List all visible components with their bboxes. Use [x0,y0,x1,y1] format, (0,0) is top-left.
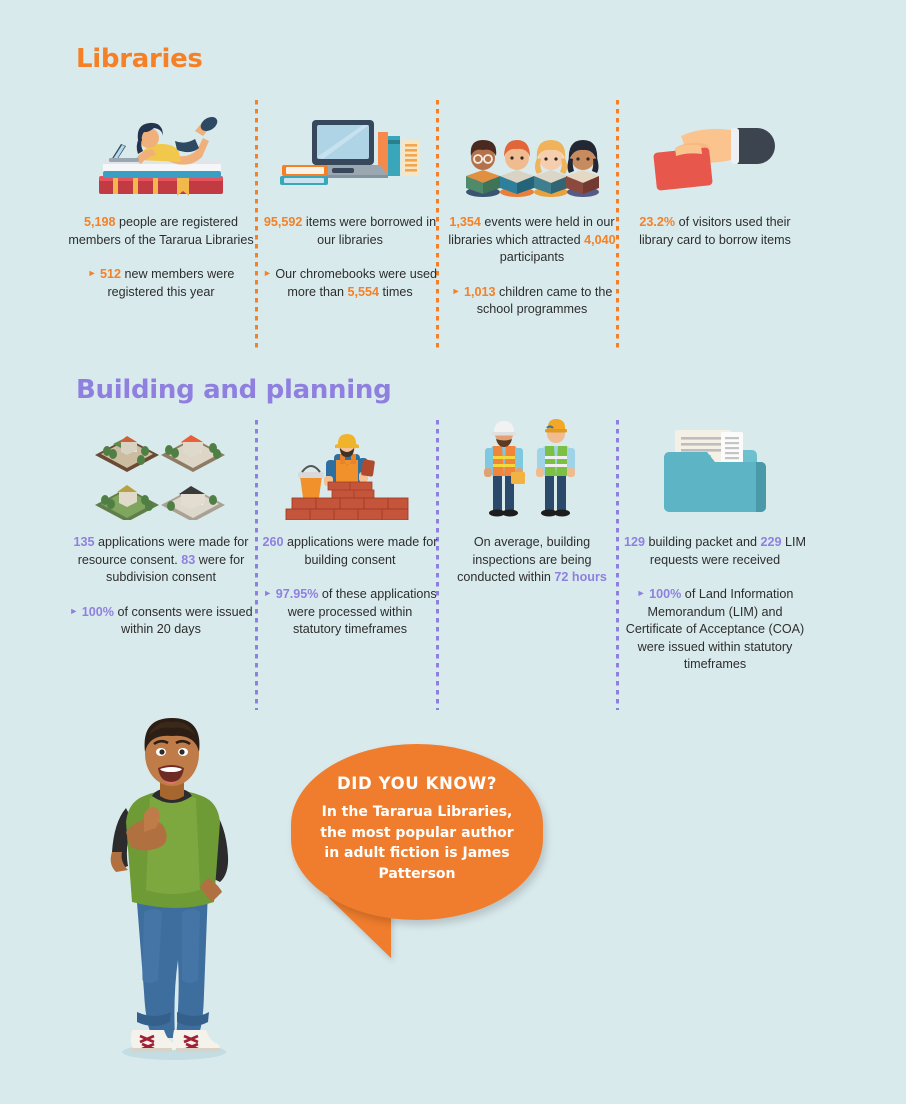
stat-column-resource-consent: 135 applications were made for resource … [66,420,256,639]
section-heading-building-and-planning: Building and planning [76,375,391,405]
stat-column-registered-members: 5,198 people are registered members of t… [66,100,256,301]
stat-list: 23.2% of visitors used their library car… [622,214,808,249]
stat-list: 95,592 items were borrowed in our librar… [262,214,438,301]
two-building-inspectors-icon [444,420,620,520]
stat-item: 129 building packet and 229 LIM requests… [622,534,808,569]
children-reading-books-icon [444,100,620,200]
stat-column-library-card: 23.2% of visitors used their library car… [622,100,808,249]
hand-holding-card-icon [622,100,808,200]
stat-list: 135 applications were made for resource … [66,534,256,639]
bullet-arrow-icon: ► [263,268,272,278]
callout-title: DID YOU KNOW? [337,774,497,793]
section-building-and-planning: 135 applications were made for resource … [0,420,906,710]
stat-item: 23.2% of visitors used their library car… [622,214,808,249]
stat-list: 260 applications were made for building … [262,534,438,639]
stat-item: ► 1,013 children came to the school prog… [444,283,620,319]
stat-item: 135 applications were made for resource … [66,534,256,587]
stat-column-lim-requests: 129 building packet and 229 LIM requests… [622,420,808,674]
section-libraries: 5,198 people are registered members of t… [0,100,906,350]
bullet-arrow-icon: ► [263,588,272,598]
stat-list: 129 building packet and 229 LIM requests… [622,534,808,674]
bullet-arrow-icon: ► [637,588,646,598]
stat-item: 1,354 events were held in our libraries … [444,214,620,267]
bullet-arrow-icon: ► [452,286,461,296]
section-heading-libraries: Libraries [76,44,203,74]
stat-item: ► Our chromebooks were used more than 5,… [262,265,438,301]
stat-item: 5,198 people are registered members of t… [66,214,256,249]
stat-list: 1,354 events were held in our libraries … [444,214,620,319]
stat-column-events-held: 1,354 events were held in our libraries … [444,100,620,319]
stat-item: On average, building inspections are bei… [444,534,620,587]
bullet-arrow-icon: ► [88,268,97,278]
stat-item: 95,592 items were borrowed in our librar… [262,214,438,249]
stat-column-building-consent: 260 applications were made for building … [262,420,438,639]
bullet-arrow-icon: ► [69,606,78,616]
boy-thumbs-up-icon [92,712,252,1067]
stat-item: ► 512 new members were registered this y… [66,265,256,301]
stat-item: ► 100% of consents were issued within 20… [66,603,256,639]
bricklayer-icon [262,420,438,520]
isometric-houses-icon [66,420,256,520]
stat-item: ► 100% of Land Information Memorandum (L… [622,585,808,674]
laptop-and-books-icon [262,100,438,200]
stat-item: ► 97.95% of these applications were proc… [262,585,438,639]
callout-body: In the Tararua Libraries, the most popul… [313,802,521,884]
stat-column-items-borrowed: 95,592 items were borrowed in our librar… [262,100,438,301]
stat-list: 5,198 people are registered members of t… [66,214,256,301]
did-you-know-speech-bubble: DID YOU KNOW? In the Tararua Libraries, … [291,744,543,920]
stat-list: On average, building inspections are bei… [444,534,620,587]
folder-with-documents-icon [622,420,808,520]
stat-column-inspections: On average, building inspections are bei… [444,420,620,587]
stat-item: 260 applications were made for building … [262,534,438,569]
person-reading-on-books-icon [66,100,256,200]
infographic-page: Libraries [0,0,906,1104]
